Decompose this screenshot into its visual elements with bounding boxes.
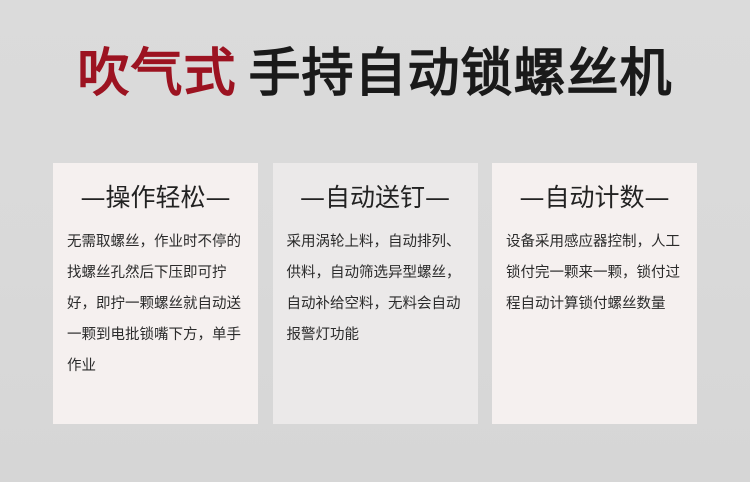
title-main-text: 手持自动锁螺丝机 — [249, 44, 673, 104]
feature-card-body: 无需取螺丝，作业时不停的找螺丝孔然后下压即可拧好，即拧一颗螺丝就自动送一颗到电批… — [67, 227, 244, 382]
feature-card-heading: —操作轻松— — [80, 184, 230, 213]
title-accent-text: 吹气式 — [77, 44, 236, 104]
feature-card-body: 设备采用感应器控制，人工锁付完一颗来一颗，锁付过程自动计算锁付螺丝数量 — [506, 227, 683, 320]
feature-card-heading: —自动计数— — [519, 184, 669, 213]
feature-card-heading: —自动送钉— — [300, 184, 450, 213]
promo-banner: 吹气式手持自动锁螺丝机 —操作轻松— 无需取螺丝，作业时不停的找螺丝孔然后下压即… — [0, 0, 750, 482]
feature-card-list: —操作轻松— 无需取螺丝，作业时不停的找螺丝孔然后下压即可拧好，即拧一颗螺丝就自… — [53, 163, 697, 424]
feature-card-operation: —操作轻松— 无需取螺丝，作业时不停的找螺丝孔然后下压即可拧好，即拧一颗螺丝就自… — [53, 163, 258, 424]
feature-card-auto-feed: —自动送钉— 采用涡轮上料，自动排列、供料，自动筛选异型螺丝，自动补给空料，无料… — [273, 163, 478, 424]
feature-card-auto-count: —自动计数— 设备采用感应器控制，人工锁付完一颗来一颗，锁付过程自动计算锁付螺丝… — [492, 163, 697, 424]
page-title: 吹气式手持自动锁螺丝机 — [0, 48, 750, 100]
feature-card-body: 采用涡轮上料，自动排列、供料，自动筛选异型螺丝，自动补给空料，无料会自动报警灯功… — [287, 227, 464, 351]
